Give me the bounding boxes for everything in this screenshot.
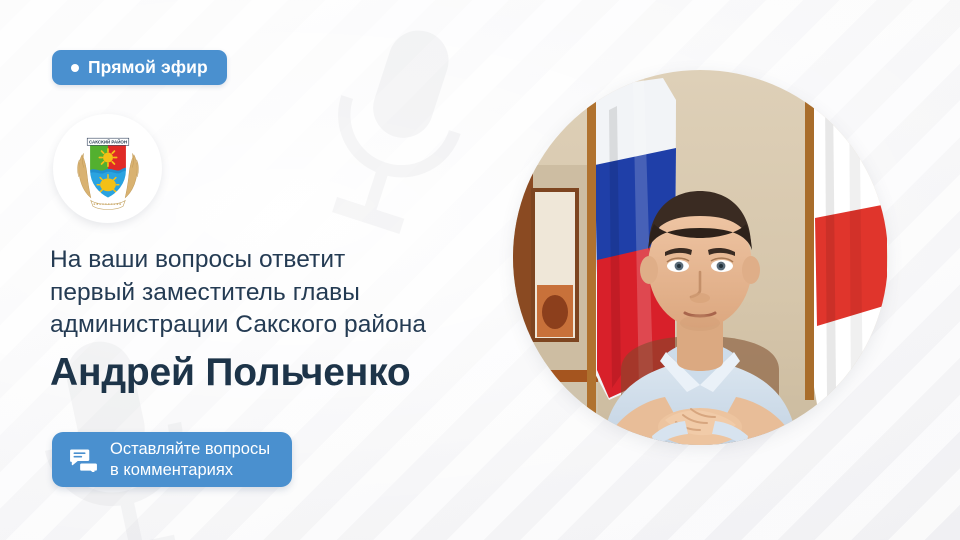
portrait-of-andrey-polchenko <box>513 70 888 445</box>
poster-canvas: Прямой эфир <box>0 0 960 540</box>
live-badge-label: Прямой эфир <box>88 57 208 78</box>
live-dot-icon <box>71 64 79 72</box>
district-emblem: САКСКИЙ РАЙОН <box>53 114 162 223</box>
headline-line-1: На ваши вопросы ответит <box>50 244 520 277</box>
headline-line-2: первый заместитель главы <box>50 277 520 310</box>
live-broadcast-badge[interactable]: Прямой эфир <box>52 50 227 85</box>
cta-line-1: Оставляйте вопросы <box>110 439 270 460</box>
comment-bubbles-icon <box>70 448 97 472</box>
cta-line-2: в комментариях <box>110 460 270 481</box>
coat-of-arms-graphic: САКСКИЙ РАЙОН <box>65 126 151 212</box>
leave-questions-button[interactable]: Оставляйте вопросы в комментариях <box>52 432 292 487</box>
headline-line-3: администрации Сакского района <box>50 309 520 342</box>
leave-questions-label: Оставляйте вопросы в комментариях <box>110 439 270 481</box>
page-title: На ваши вопросы ответит первый заместите… <box>50 244 520 342</box>
person-name: Андрей Польченко <box>50 352 570 394</box>
